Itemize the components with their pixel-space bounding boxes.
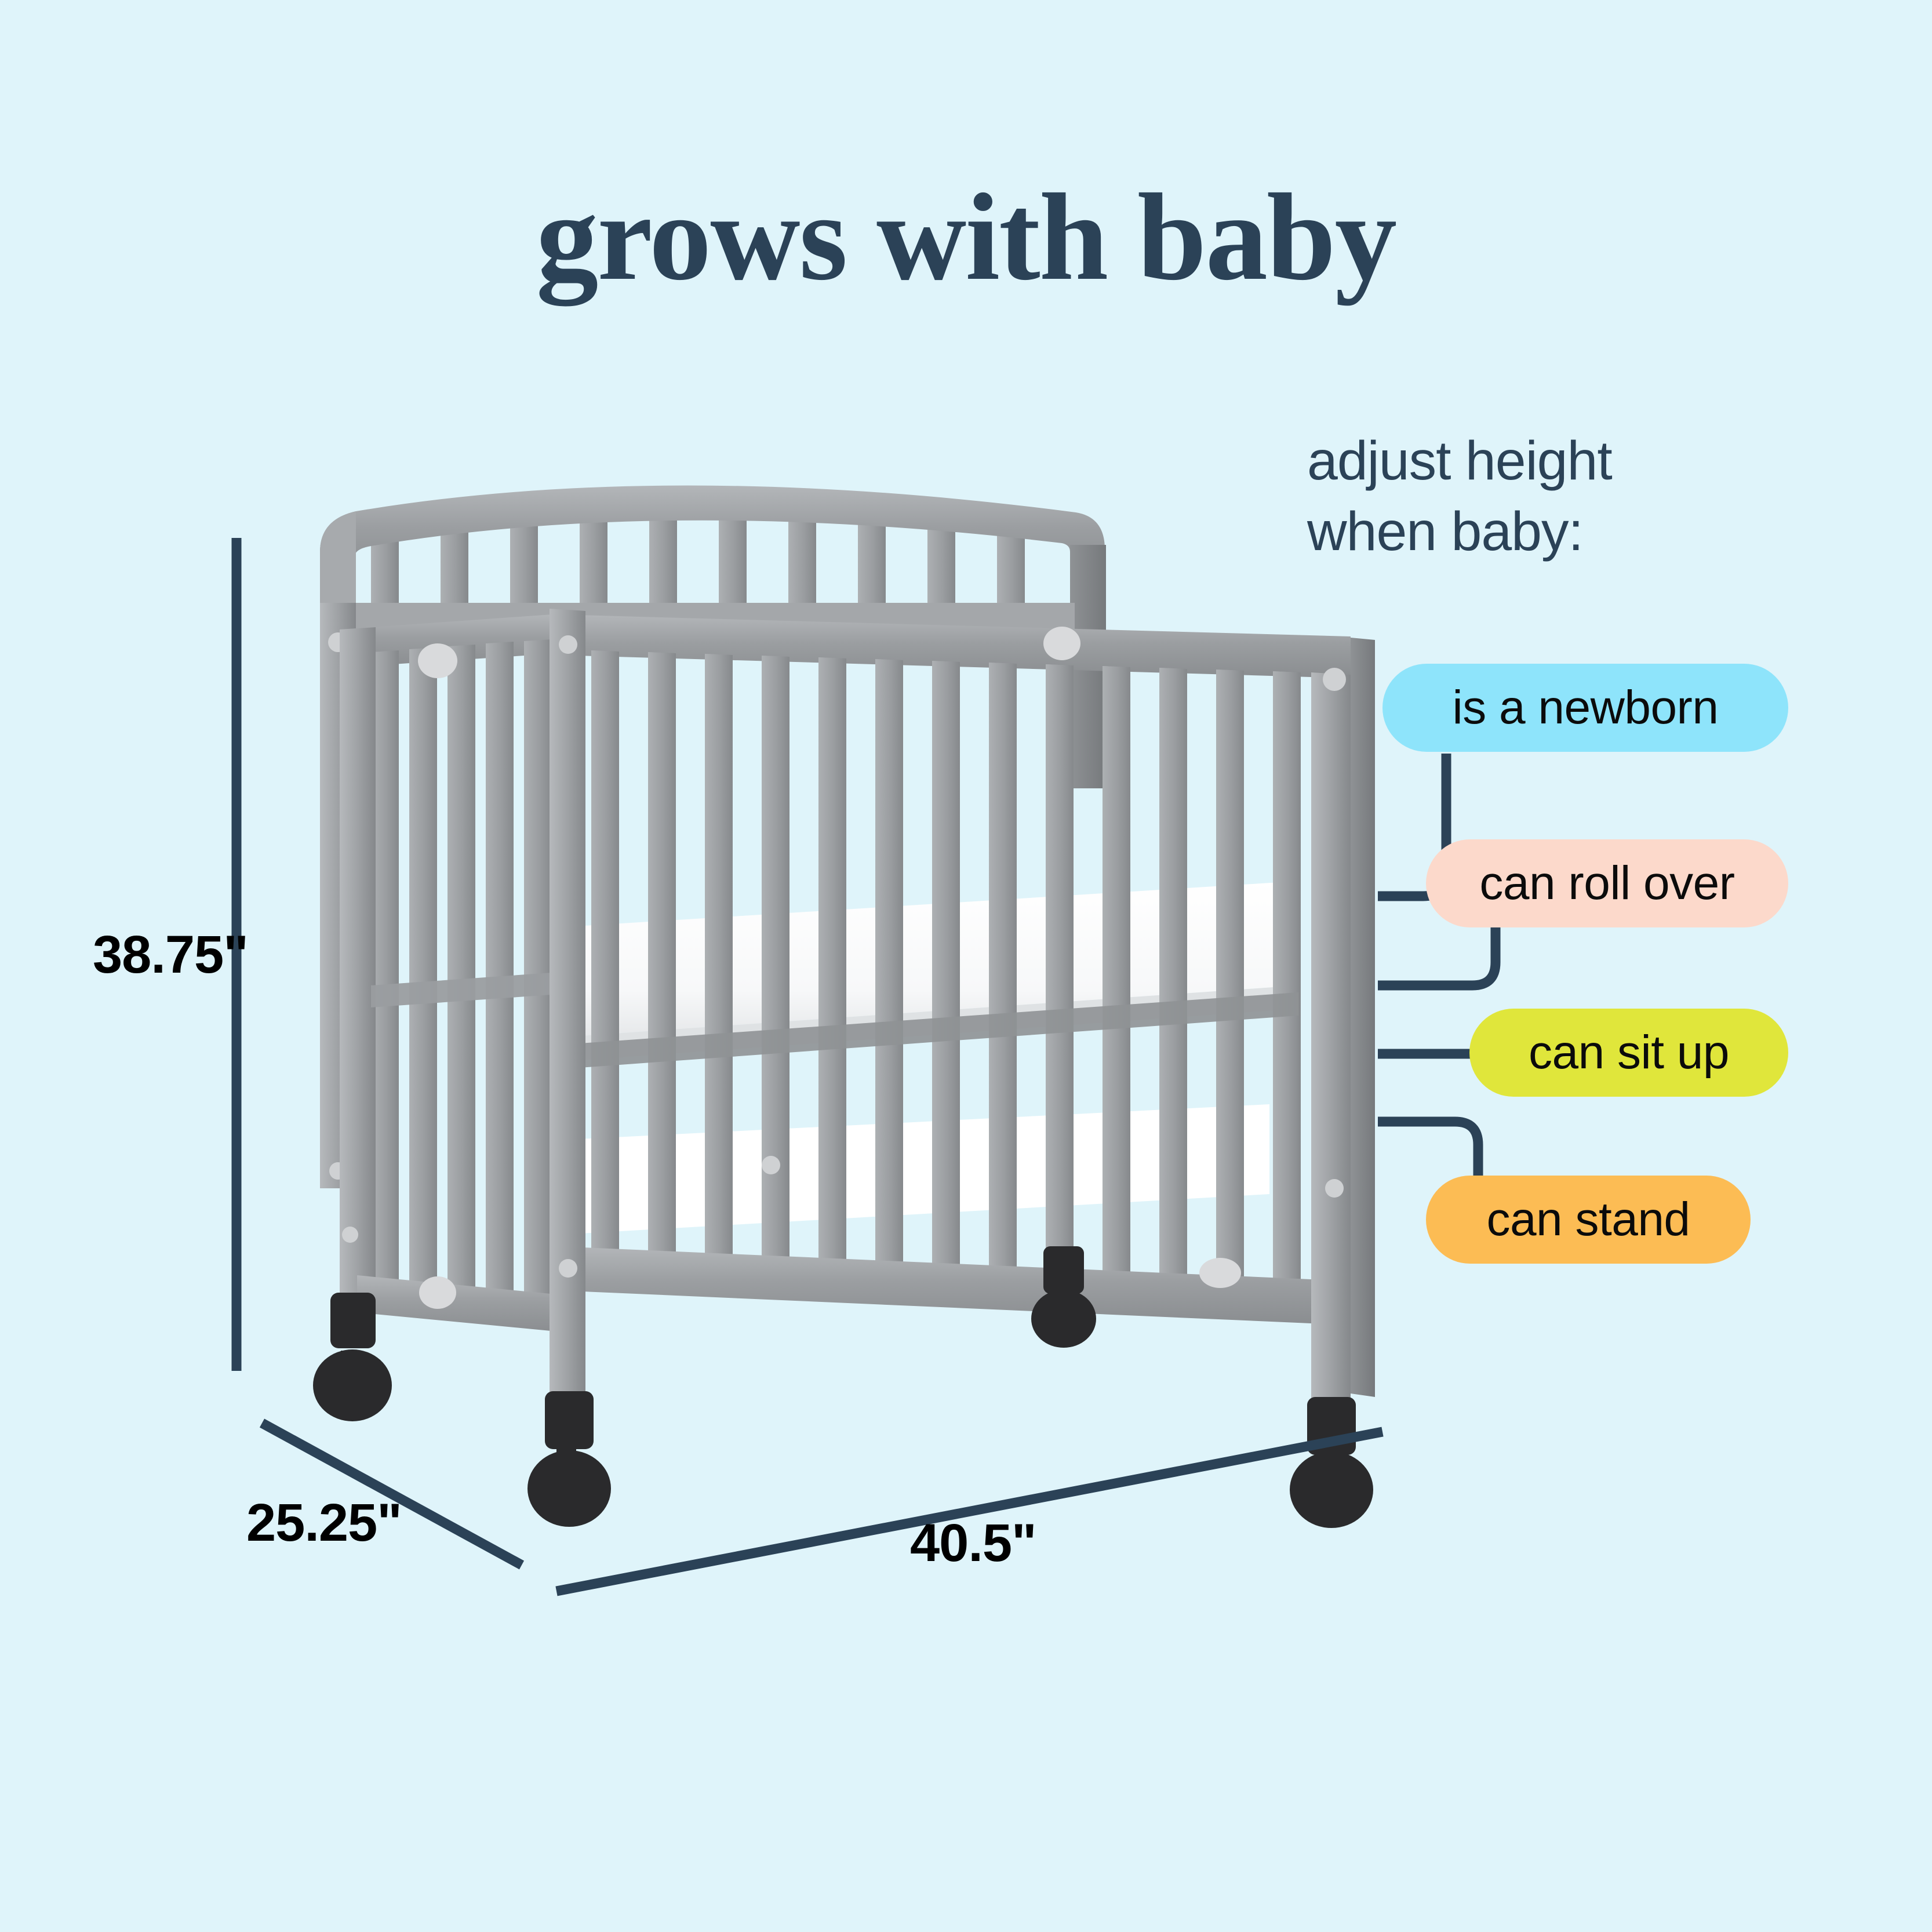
callout-pill-can-sit-up[interactable]: can sit up — [1469, 1009, 1788, 1097]
connector-stand — [1378, 1122, 1478, 1177]
adjust-height-heading-line1: adjust height — [1307, 426, 1612, 497]
callout-connectors — [0, 0, 1932, 1932]
connector-roll-over — [1378, 927, 1496, 985]
infographic-canvas: grows with baby — [0, 0, 1932, 1932]
callout-pill-label: can sit up — [1529, 1025, 1729, 1080]
callout-pill-can-roll-over[interactable]: can roll over — [1426, 839, 1788, 927]
callout-pill-is-a-newborn[interactable]: is a newborn — [1382, 664, 1788, 752]
callout-pill-label: can roll over — [1479, 856, 1734, 911]
adjust-height-heading: adjust height when baby: — [1307, 426, 1612, 567]
callout-pill-can-stand[interactable]: can stand — [1426, 1176, 1751, 1264]
callout-pill-label: can stand — [1486, 1192, 1690, 1247]
adjust-height-heading-line2: when baby: — [1307, 497, 1612, 567]
callout-pill-label: is a newborn — [1453, 681, 1719, 735]
